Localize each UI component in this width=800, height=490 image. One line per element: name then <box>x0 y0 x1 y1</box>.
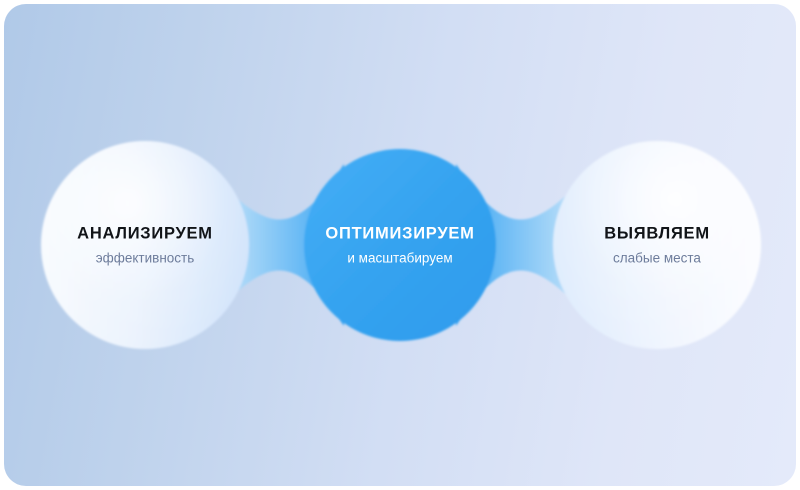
blob-detect-sheen <box>553 141 761 349</box>
blob-optimize <box>304 149 496 341</box>
metaball-blob-group <box>4 4 796 486</box>
card-surface: АНАЛИЗИРУЕМ эффективность ОПТИМИЗИРУЕМ и… <box>4 4 796 486</box>
infographic-card: АНАЛИЗИРУЕМ эффективность ОПТИМИЗИРУЕМ и… <box>0 0 800 490</box>
blob-analyze-sheen <box>41 141 249 349</box>
